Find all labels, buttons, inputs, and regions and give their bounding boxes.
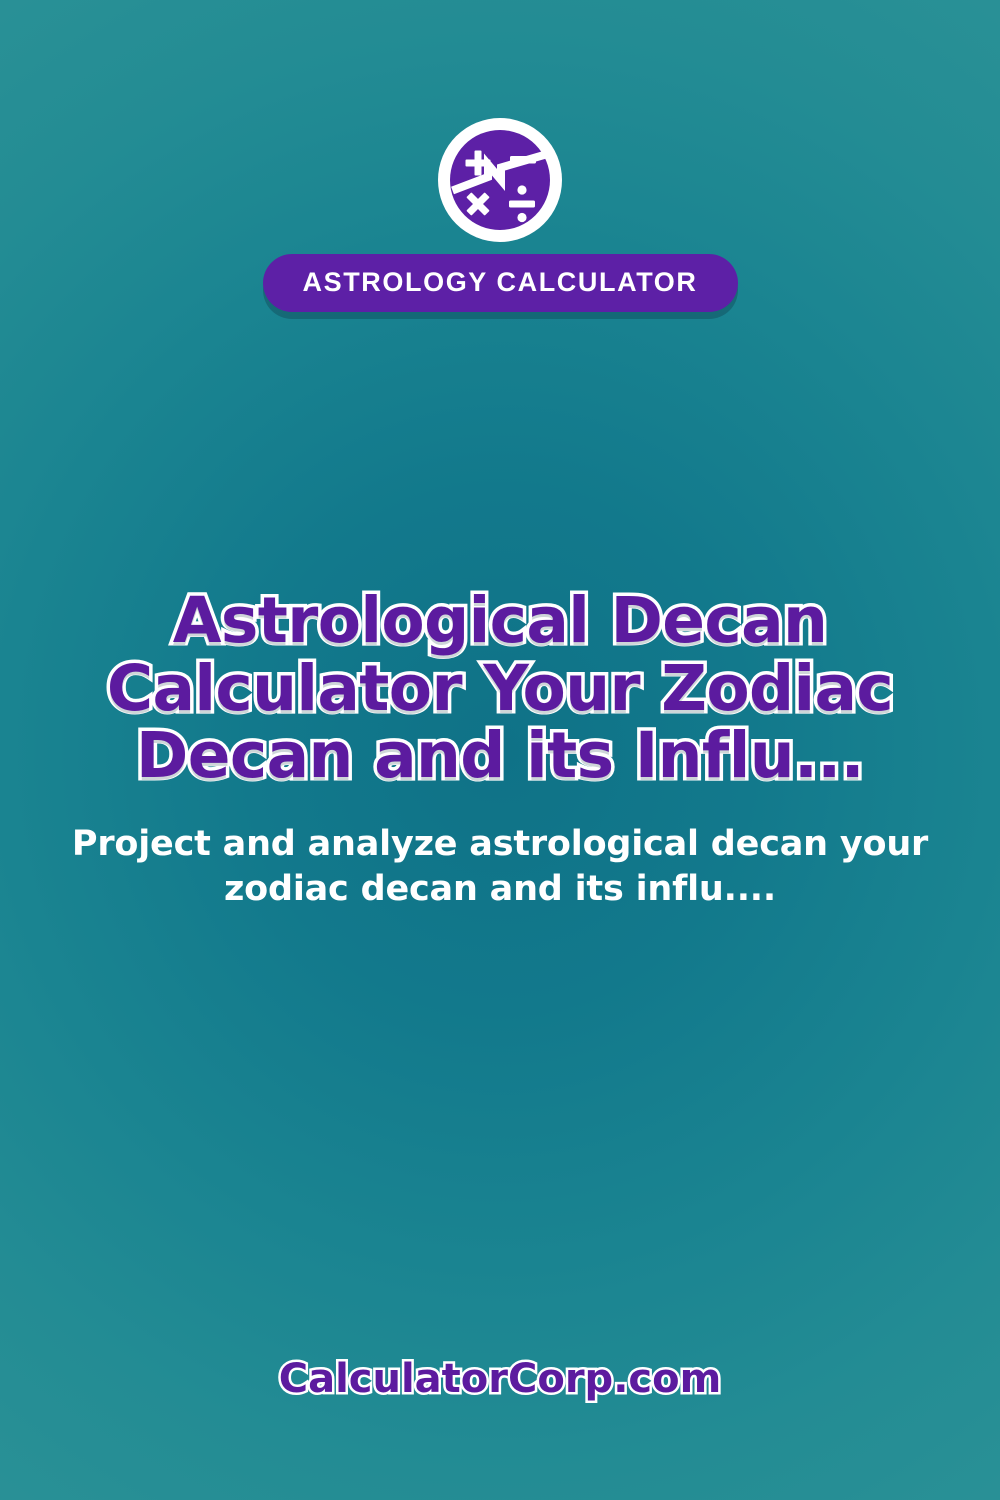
page-title: Astrological Decan Calculator Your Zodia… — [85, 587, 915, 789]
poster-canvas: ASTROLOGY CALCULATOR Astrological Decan … — [0, 0, 1000, 1500]
site-url[interactable]: CalculatorCorp.com — [279, 1356, 722, 1402]
footer-container: CalculatorCorp.com — [0, 1356, 1000, 1402]
hero-section: Astrological Decan Calculator Your Zodia… — [0, 0, 1000, 1500]
page-subtitle: Project and analyze astrological decan y… — [65, 822, 935, 913]
